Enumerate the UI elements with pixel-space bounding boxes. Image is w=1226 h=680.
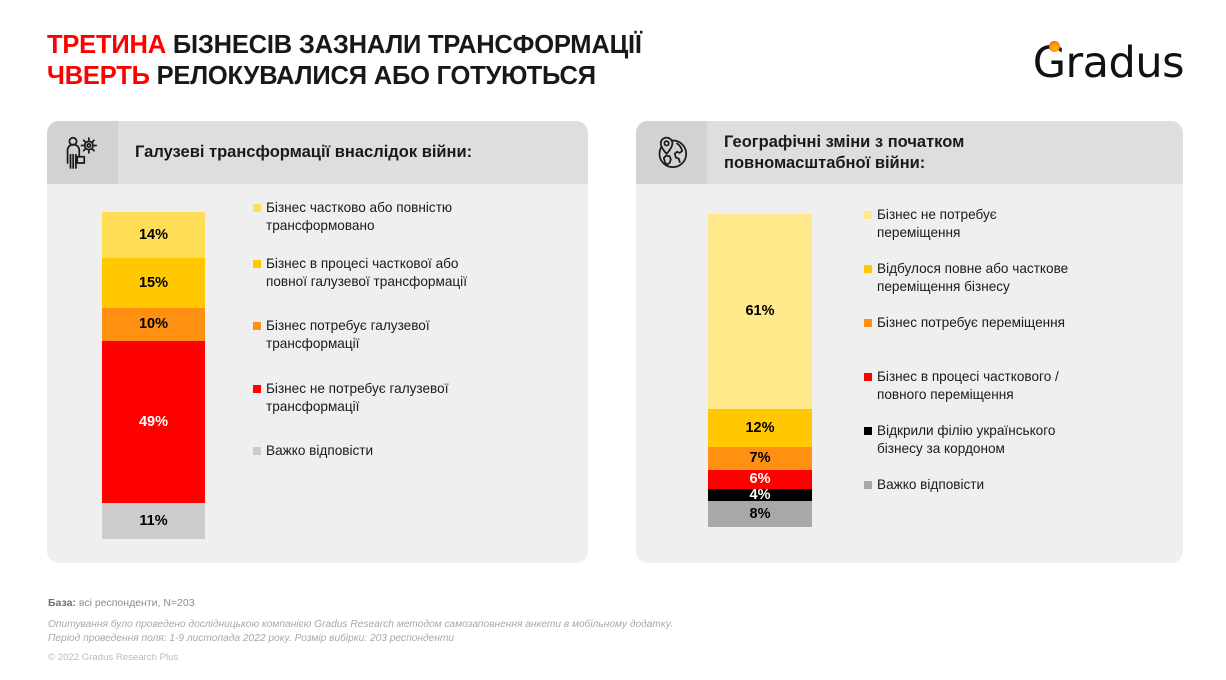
legend-item[interactable]: Важко відповісти	[864, 476, 984, 494]
stacked-bar-left: 14%15%10%49%11%	[102, 212, 205, 539]
slide: ТРЕТИНА БІЗНЕСІВ ЗАЗНАЛИ ТРАНСФОРМАЦІЇ Ч…	[0, 0, 1226, 680]
legend-swatch	[864, 211, 872, 219]
legend-item[interactable]: Бізнес частково або повністю трансформов…	[253, 199, 452, 235]
bar-segment: 8%	[708, 501, 812, 527]
stacked-bar-right: 61%12%7%6%4%8%	[708, 214, 812, 527]
legend-item[interactable]: Бізнес потребує переміщення	[864, 314, 1065, 332]
legend-swatch	[864, 265, 872, 273]
bar-segment: 11%	[102, 503, 205, 539]
panel-header-right: Географічні зміни з початком повномасшта…	[636, 121, 1183, 184]
footer-base: База: всі респонденти, N=203	[48, 597, 195, 609]
legend-swatch	[253, 260, 261, 268]
bar-segment-label: 6%	[750, 472, 771, 487]
title-highlight-1: ТРЕТИНА	[47, 31, 166, 59]
legend-swatch	[864, 427, 872, 435]
footer-methodology-note: Опитування було проведено дослідницькою …	[48, 618, 673, 646]
title-line-1: ТРЕТИНА БІЗНЕСІВ ЗАЗНАЛИ ТРАНСФОРМАЦІЇ	[47, 30, 642, 61]
legend-label: Важко відповісти	[877, 476, 984, 494]
legend-label: Бізнес частково або повністю трансформов…	[266, 199, 452, 235]
legend-item[interactable]: Бізнес в процесі часткової або повної га…	[253, 255, 467, 291]
legend-item[interactable]: Відкрили філію українського бізнесу за к…	[864, 422, 1055, 458]
bar-segment-label: 15%	[139, 276, 168, 291]
legend-swatch	[864, 481, 872, 489]
footer-base-label: База:	[48, 597, 76, 609]
bar-segment-label: 12%	[745, 421, 774, 436]
title-rest-1: БІЗНЕСІВ ЗАЗНАЛИ ТРАНСФОРМАЦІЇ	[166, 31, 642, 59]
bar-segment-label: 10%	[139, 317, 168, 332]
legend-swatch	[253, 447, 261, 455]
bar-segment: 49%	[102, 341, 205, 503]
title-rest-2: РЕЛОКУВАЛИСЯ АБО ГОТУЮТЬСЯ	[150, 62, 596, 90]
legend-item[interactable]: Бізнес потребує галузевої трансформації	[253, 317, 430, 353]
legend-label: Відкрили філію українського бізнесу за к…	[877, 422, 1055, 458]
legend-swatch	[864, 319, 872, 327]
bar-segment: 7%	[708, 447, 812, 469]
bar-segment: 10%	[102, 308, 205, 341]
bar-segment: 15%	[102, 258, 205, 308]
legend-swatch	[864, 373, 872, 381]
globe-pin-icon	[636, 121, 707, 184]
bar-segment: 12%	[708, 409, 812, 447]
bar-segment: 4%	[708, 489, 812, 502]
bar-segment-label: 8%	[750, 507, 771, 522]
legend-swatch	[253, 204, 261, 212]
legend-label: Бізнес в процесі часткового / повного пе…	[877, 368, 1059, 404]
legend-item[interactable]: Важко відповісти	[253, 442, 373, 460]
legend-label: Важко відповісти	[266, 442, 373, 460]
bar-segment-label: 11%	[139, 514, 167, 529]
legend-label: Бізнес потребує переміщення	[877, 314, 1065, 332]
worker-gear-icon	[47, 121, 118, 184]
footer-base-value: всі респонденти, N=203	[76, 597, 195, 609]
gradus-logo: Gradus	[1033, 38, 1184, 88]
legend-label: Бізнес потребує галузевої трансформації	[266, 317, 430, 353]
chart-geographic-changes: 61%12%7%6%4%8% Бізнес не потребує перемі…	[636, 184, 1183, 563]
legend-label: Бізнес не потребує галузевої трансформац…	[266, 380, 448, 416]
bar-segment-label: 49%	[139, 415, 168, 430]
panel-industry-transformation: Галузеві трансформації внаслідок війни: …	[47, 121, 588, 563]
legend-item[interactable]: Бізнес не потребує переміщення	[864, 206, 997, 242]
page-title: ТРЕТИНА БІЗНЕСІВ ЗАЗНАЛИ ТРАНСФОРМАЦІЇ Ч…	[47, 30, 642, 92]
bar-segment-label: 14%	[139, 228, 168, 243]
legend-item[interactable]: Бізнес в процесі часткового / повного пе…	[864, 368, 1059, 404]
bar-segment-label: 61%	[745, 304, 774, 319]
bar-segment-label: 7%	[750, 451, 771, 466]
panel-right-heading: Географічні зміни з початком повномасшта…	[707, 132, 964, 174]
panel-geographic-changes: Географічні зміни з початком повномасшта…	[636, 121, 1183, 563]
chart-industry-transformation: 14%15%10%49%11% Бізнес частково або повн…	[47, 184, 588, 563]
title-line-2: ЧВЕРТЬ РЕЛОКУВАЛИСЯ АБО ГОТУЮТЬСЯ	[47, 61, 642, 92]
title-highlight-2: ЧВЕРТЬ	[47, 62, 150, 90]
logo-dot-icon	[1049, 41, 1060, 52]
legend-label: Бізнес в процесі часткової або повної га…	[266, 255, 467, 291]
legend-swatch	[253, 385, 261, 393]
panel-left-heading: Галузеві трансформації внаслідок війни:	[118, 142, 472, 163]
legend-swatch	[253, 322, 261, 330]
panel-header-left: Галузеві трансформації внаслідок війни:	[47, 121, 588, 184]
legend-label: Відбулося повне або часткове переміщення…	[877, 260, 1068, 296]
bar-segment: 6%	[708, 470, 812, 489]
bar-segment-label: 4%	[750, 489, 771, 502]
legend-label: Бізнес не потребує переміщення	[877, 206, 997, 242]
legend-item[interactable]: Бізнес не потребує галузевої трансформац…	[253, 380, 448, 416]
legend-item[interactable]: Відбулося повне або часткове переміщення…	[864, 260, 1068, 296]
bar-segment: 14%	[102, 212, 205, 258]
bar-segment: 61%	[708, 214, 812, 409]
footer-copyright: © 2022 Gradus Research Plus	[48, 652, 178, 663]
